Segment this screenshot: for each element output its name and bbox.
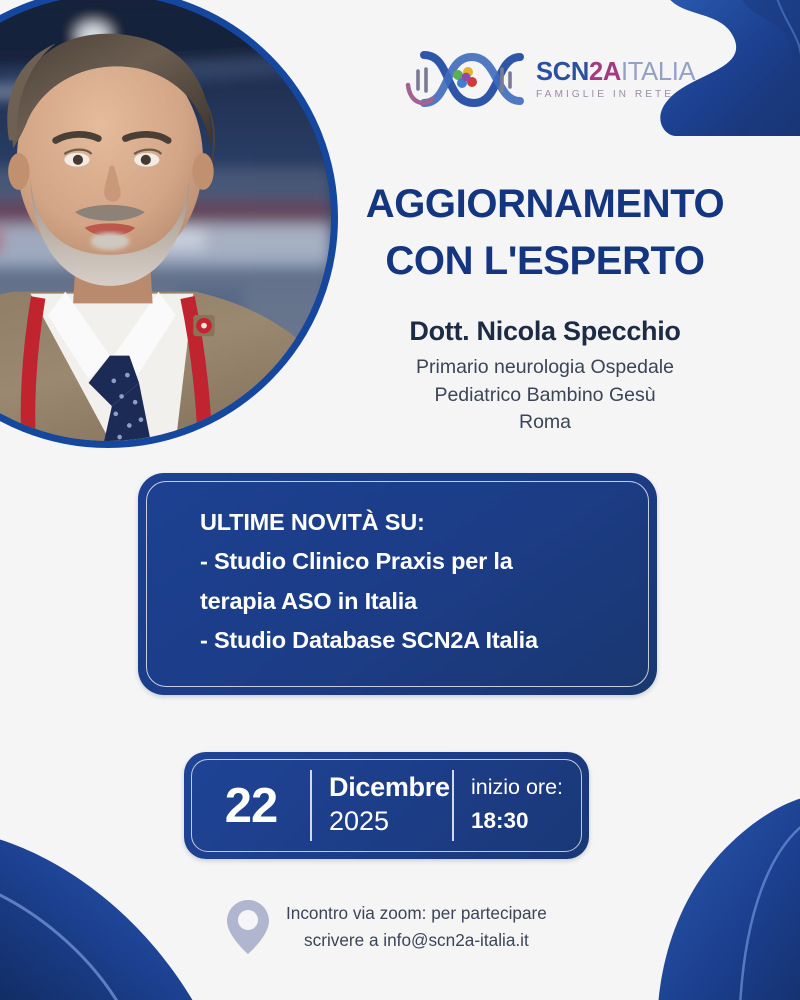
- logo-text-block: SCN2AITALIA FAMIGLIE IN RETE: [536, 58, 695, 101]
- event-year: 2025: [329, 805, 452, 837]
- footer-info: Incontro via zoom: per partecipare scriv…: [222, 898, 582, 956]
- topics-item-2: - Studio Database SCN2A Italia: [200, 621, 633, 660]
- portrait-photo: [0, 0, 331, 441]
- logo-word-scn: SCN: [536, 58, 589, 86]
- speaker-portrait: [0, 0, 338, 448]
- event-time-value: 18:30: [471, 806, 563, 835]
- title-line-1: AGGIORNAMENTO: [335, 176, 755, 233]
- brand-logo: SCN2AITALIA FAMIGLIE IN RETE: [400, 44, 705, 114]
- footer-line-2: scrivere a info@scn2a-italia.it: [286, 927, 547, 954]
- event-date-panel: 22 Dicembre 2025 inizio ore: 18:30: [184, 752, 589, 859]
- speaker-role-line-2: Pediatrico Bambino Gesù: [434, 384, 655, 406]
- speaker-role-line-3: Roma: [519, 411, 571, 433]
- speaker-name: Dott. Nicola Specchio: [330, 316, 760, 347]
- event-month-year: Dicembre 2025: [312, 760, 452, 851]
- logo-word-2a: 2A: [589, 58, 621, 86]
- event-date-panel-border: 22 Dicembre 2025 inizio ore: 18:30: [191, 759, 582, 852]
- title-line-2: CON L'ESPERTO: [335, 233, 755, 290]
- event-month: Dicembre: [329, 773, 452, 803]
- footer-text: Incontro via zoom: per partecipare scriv…: [286, 900, 547, 953]
- speaker-info: Dott. Nicola Specchio Primario neurologi…: [330, 316, 760, 437]
- decorative-arc-bottom-right: [580, 796, 800, 1000]
- logo-wordmark: SCN2AITALIA: [536, 60, 695, 86]
- logo-word-italia: ITALIA: [621, 58, 695, 86]
- speaker-role-line-1: Primario neurologia Ospedale: [416, 356, 674, 378]
- topics-heading: ULTIME NOVITÀ SU:: [200, 503, 633, 542]
- speaker-role: Primario neurologia Ospedale Pediatrico …: [330, 354, 760, 437]
- page-title: AGGIORNAMENTO CON L'ESPERTO: [335, 176, 755, 290]
- poster-canvas: SCN2AITALIA FAMIGLIE IN RETE AGGIORNAMEN…: [0, 0, 800, 1000]
- event-day: 22: [192, 760, 310, 851]
- event-time-label: inizio ore:: [471, 775, 563, 801]
- event-time: inizio ore: 18:30: [454, 760, 563, 851]
- topics-item-1-line-2: terapia ASO in Italia: [200, 582, 633, 621]
- topics-list: ULTIME NOVITÀ SU: - Studio Clinico Praxi…: [200, 503, 633, 661]
- location-pin-icon: [222, 898, 274, 956]
- topics-panel: ULTIME NOVITÀ SU: - Studio Clinico Praxi…: [138, 473, 657, 695]
- logo-tagline: FAMIGLIE IN RETE: [536, 89, 695, 100]
- topics-item-1-line-1: - Studio Clinico Praxis per la: [200, 542, 633, 581]
- footer-line-1: Incontro via zoom: per partecipare: [286, 900, 547, 927]
- dna-helix-icon: [400, 45, 530, 113]
